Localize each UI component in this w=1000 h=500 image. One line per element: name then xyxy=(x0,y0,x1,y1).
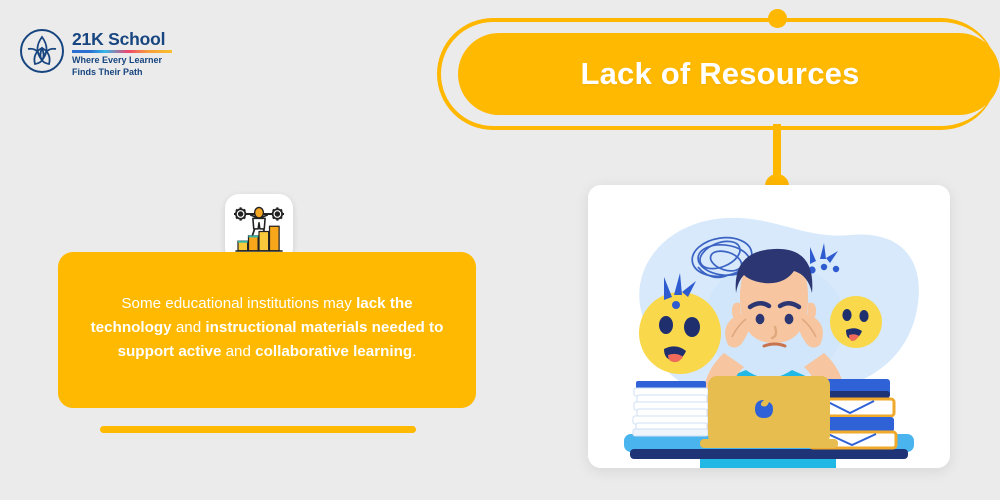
description-card: Some educational institutions may lack t… xyxy=(58,252,476,408)
description-text: Some educational institutions may lack t… xyxy=(82,292,452,364)
stack-of-papers xyxy=(633,381,708,436)
brand-tagline-line1: Where Every Learner xyxy=(72,55,172,67)
lotus-circle-icon xyxy=(18,27,66,75)
brand-wordmark: 21K School Where Every Learner Finds The… xyxy=(72,29,172,78)
banner-top-dot-icon xyxy=(768,9,787,28)
brand-logo: 21K School Where Every Learner Finds The… xyxy=(18,27,218,77)
shocked-emoji-right xyxy=(830,296,882,348)
illustration-card xyxy=(588,185,950,468)
header-banner: Lack of Resources xyxy=(458,33,1000,115)
stressed-student-at-laptop-illustration xyxy=(588,185,950,468)
accent-bar xyxy=(100,426,416,433)
brand-gradient-rule xyxy=(72,50,172,53)
page-title: Lack of Resources xyxy=(580,56,877,92)
brand-tagline-line2: Finds Their Path xyxy=(72,67,172,79)
brand-name: 21K School xyxy=(72,29,172,49)
laptop xyxy=(700,376,838,448)
brand-tagline: Where Every Learner Finds Their Path xyxy=(72,55,172,78)
